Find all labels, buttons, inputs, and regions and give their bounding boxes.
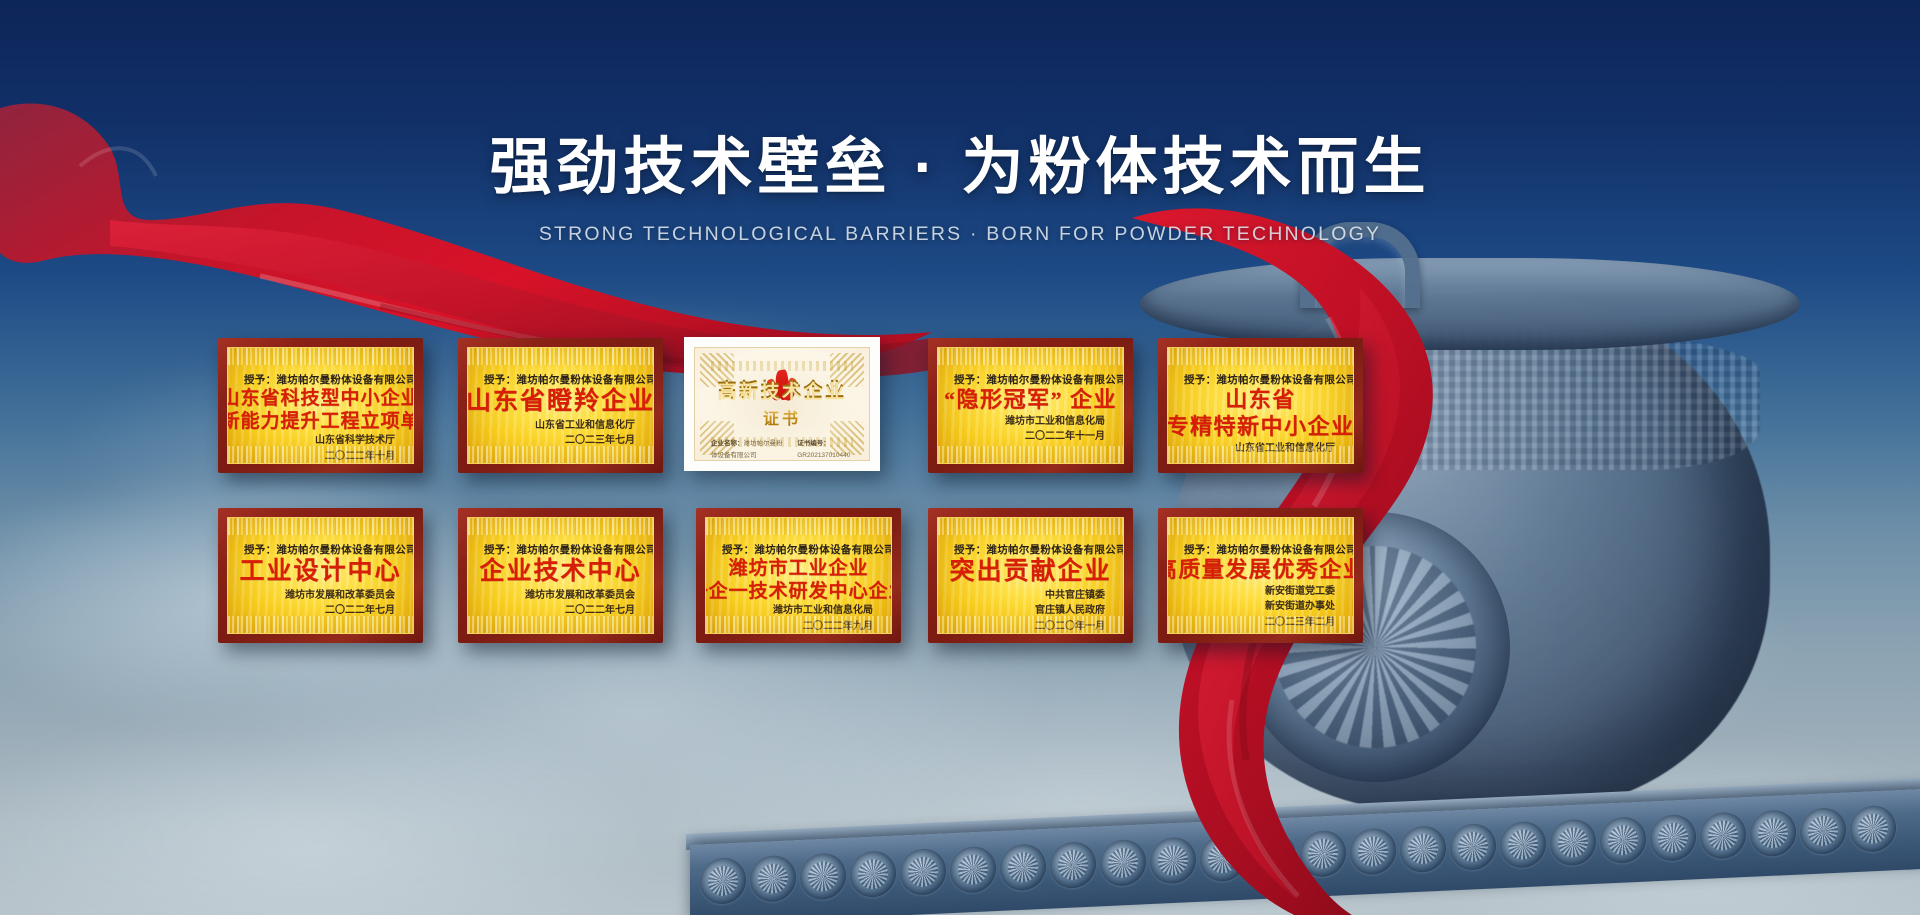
plaque-issuer: 新安街道党工委 (1265, 584, 1335, 600)
cert-field-label: 证书编号： (797, 440, 830, 447)
certificate-fields: 企业名称：潍坊帕尔曼粉体设备有限公司 证书编号：GR202137010440 发… (695, 438, 869, 461)
plaque-date: 二〇二二年七月 (285, 603, 395, 619)
plaque-issuer: 山东省科学技术厅 (315, 433, 395, 449)
plaque-issuer: 山东省工业和信息化厅 (535, 418, 635, 434)
cert-field-value: GR202137010440 (797, 452, 850, 459)
plaque-award-to: 授予：潍坊帕尔曼粉体设备有限公司 (238, 372, 414, 387)
plaque-title: 山东省瞪羚企业 (478, 387, 643, 418)
plaque-issuer: 潍坊市工业和信息化局 (1005, 414, 1105, 430)
plaque-date: 二〇二二年七月 (525, 603, 635, 619)
plaque-title: “隐形冠军” 企业 (948, 387, 1113, 414)
plaque-title: 山东省科技型中小企业 创新能力提升工程立项单位 (238, 387, 403, 433)
plaque-footer: 潍坊市发展和改革委员会 二〇二二年七月 (285, 588, 403, 619)
plaque-date: 二〇二〇年一月 (1035, 619, 1105, 635)
plaque-award-to: 授予：潍坊帕尔曼粉体设备有限公司 (1178, 372, 1354, 387)
plaque-footer: 新安街道党工委 新安街道办事处 二〇二三年二月 (1265, 584, 1343, 631)
plaque-zhuanjing-texin[interactable]: 授予：潍坊帕尔曼粉体设备有限公司 山东省 专精特新中小企业 山东省工业和信息化厅 (1158, 338, 1363, 473)
plaque-keji-xing[interactable]: 授予：潍坊帕尔曼粉体设备有限公司 山东省科技型中小企业 创新能力提升工程立项单位… (218, 338, 423, 473)
plaque-award-to: 授予：潍坊帕尔曼粉体设备有限公司 (948, 542, 1124, 557)
plaque-title: 工业设计中心 (238, 557, 403, 588)
plaque-footer: 山东省科学技术厅 二〇二二年十月 (315, 433, 403, 464)
plaque-award-to: 授予：潍坊帕尔曼粉体设备有限公司 (948, 372, 1124, 387)
plaque-footer: 山东省工业和信息化厅 (1235, 441, 1343, 457)
plaque-denglin[interactable]: 授予：潍坊帕尔曼粉体设备有限公司 山东省瞪羚企业 山东省工业和信息化厅 二〇二三… (458, 338, 663, 473)
plaque-issuer: 潍坊市工业和信息化局 (773, 603, 873, 619)
plaque-gongye-sheji[interactable]: 授予：潍坊帕尔曼粉体设备有限公司 工业设计中心 潍坊市发展和改革委员会 二〇二二… (218, 508, 423, 643)
plaque-date: 二〇二二年九月 (773, 619, 873, 634)
plaque-issuer: 中共官庄镇委 (1035, 588, 1105, 604)
certificate-high-tech[interactable]: 高新技术企业 证书 企业名称：潍坊帕尔曼粉体设备有限公司 证书编号：GR2021… (684, 337, 880, 471)
plaque-date: 二〇二二年十一月 (1005, 429, 1105, 445)
plaque-gaozhiliang[interactable]: 授予：潍坊帕尔曼粉体设备有限公司 高质量发展优秀企业 新安街道党工委 新安街道办… (1158, 508, 1363, 643)
plaque-award-to: 授予：潍坊帕尔曼粉体设备有限公司 (716, 542, 892, 557)
plaque-footer: 潍坊市工业和信息化局 二〇二二年十一月 (1005, 414, 1113, 445)
plaque-date: 二〇二二年十月 (315, 449, 395, 464)
promotional-banner: 强劲技术壁垒 · 为粉体技术而生 STRONG TECHNOLOGICAL BA… (0, 0, 1920, 915)
plaque-award-to: 授予：潍坊帕尔曼粉体设备有限公司 (478, 542, 654, 557)
plaque-title: 高质量发展优秀企业 (1178, 557, 1343, 584)
plaque-footer: 中共官庄镇委 官庄镇人民政府 二〇二〇年一月 (1035, 588, 1113, 635)
plaque-title: 企业技术中心 (478, 557, 643, 588)
plaque-issuer2: 新安街道办事处 (1265, 599, 1335, 615)
plaque-date: 二〇二三年二月 (1265, 615, 1335, 631)
plaque-tuchu-gongxian[interactable]: 授予：潍坊帕尔曼粉体设备有限公司 突出贡献企业 中共官庄镇委 官庄镇人民政府 二… (928, 508, 1133, 643)
plaque-footer: 山东省工业和信息化厅 二〇二三年七月 (535, 418, 643, 449)
plaque-yiqi-yijishu[interactable]: 授予：潍坊帕尔曼粉体设备有限公司 潍坊市工业企业 一企一技术研发中心企业 潍坊市… (696, 508, 901, 643)
plaque-qiye-jishu[interactable]: 授予：潍坊帕尔曼粉体设备有限公司 企业技术中心 潍坊市发展和改革委员会 二〇二二… (458, 508, 663, 643)
plaque-issuer: 潍坊市发展和改革委员会 (285, 588, 395, 604)
plaque-title: 山东省 专精特新中小企业 (1178, 387, 1343, 441)
plaque-date: 二〇二三年七月 (535, 433, 635, 449)
plaque-title: 潍坊市工业企业 一企一技术研发中心企业 (716, 557, 881, 603)
plaque-footer: 潍坊市发展和改革委员会 二〇二二年七月 (525, 588, 643, 619)
award-plaque-grid: 授予：潍坊帕尔曼粉体设备有限公司 山东省科技型中小企业 创新能力提升工程立项单位… (0, 0, 1920, 915)
plaque-issuer: 山东省工业和信息化厅 (1235, 441, 1335, 457)
cert-field-label: 企业名称： (711, 440, 744, 447)
plaque-award-to: 授予：潍坊帕尔曼粉体设备有限公司 (1178, 542, 1354, 557)
plaque-award-to: 授予：潍坊帕尔曼粉体设备有限公司 (238, 542, 414, 557)
plaque-award-to: 授予：潍坊帕尔曼粉体设备有限公司 (478, 372, 654, 387)
certificate-subtitle: 证书 (763, 405, 801, 429)
plaque-issuer2: 官庄镇人民政府 (1035, 603, 1105, 619)
plaque-title: 突出贡献企业 (948, 557, 1113, 588)
certificate-title: 高新技术企业 (717, 376, 846, 403)
plaque-footer: 潍坊市工业和信息化局 二〇二二年九月 (773, 603, 881, 634)
plaque-yinxing-guanjun[interactable]: 授予：潍坊帕尔曼粉体设备有限公司 “隐形冠军” 企业 潍坊市工业和信息化局 二〇… (928, 338, 1133, 473)
plaque-issuer: 潍坊市发展和改革委员会 (525, 588, 635, 604)
